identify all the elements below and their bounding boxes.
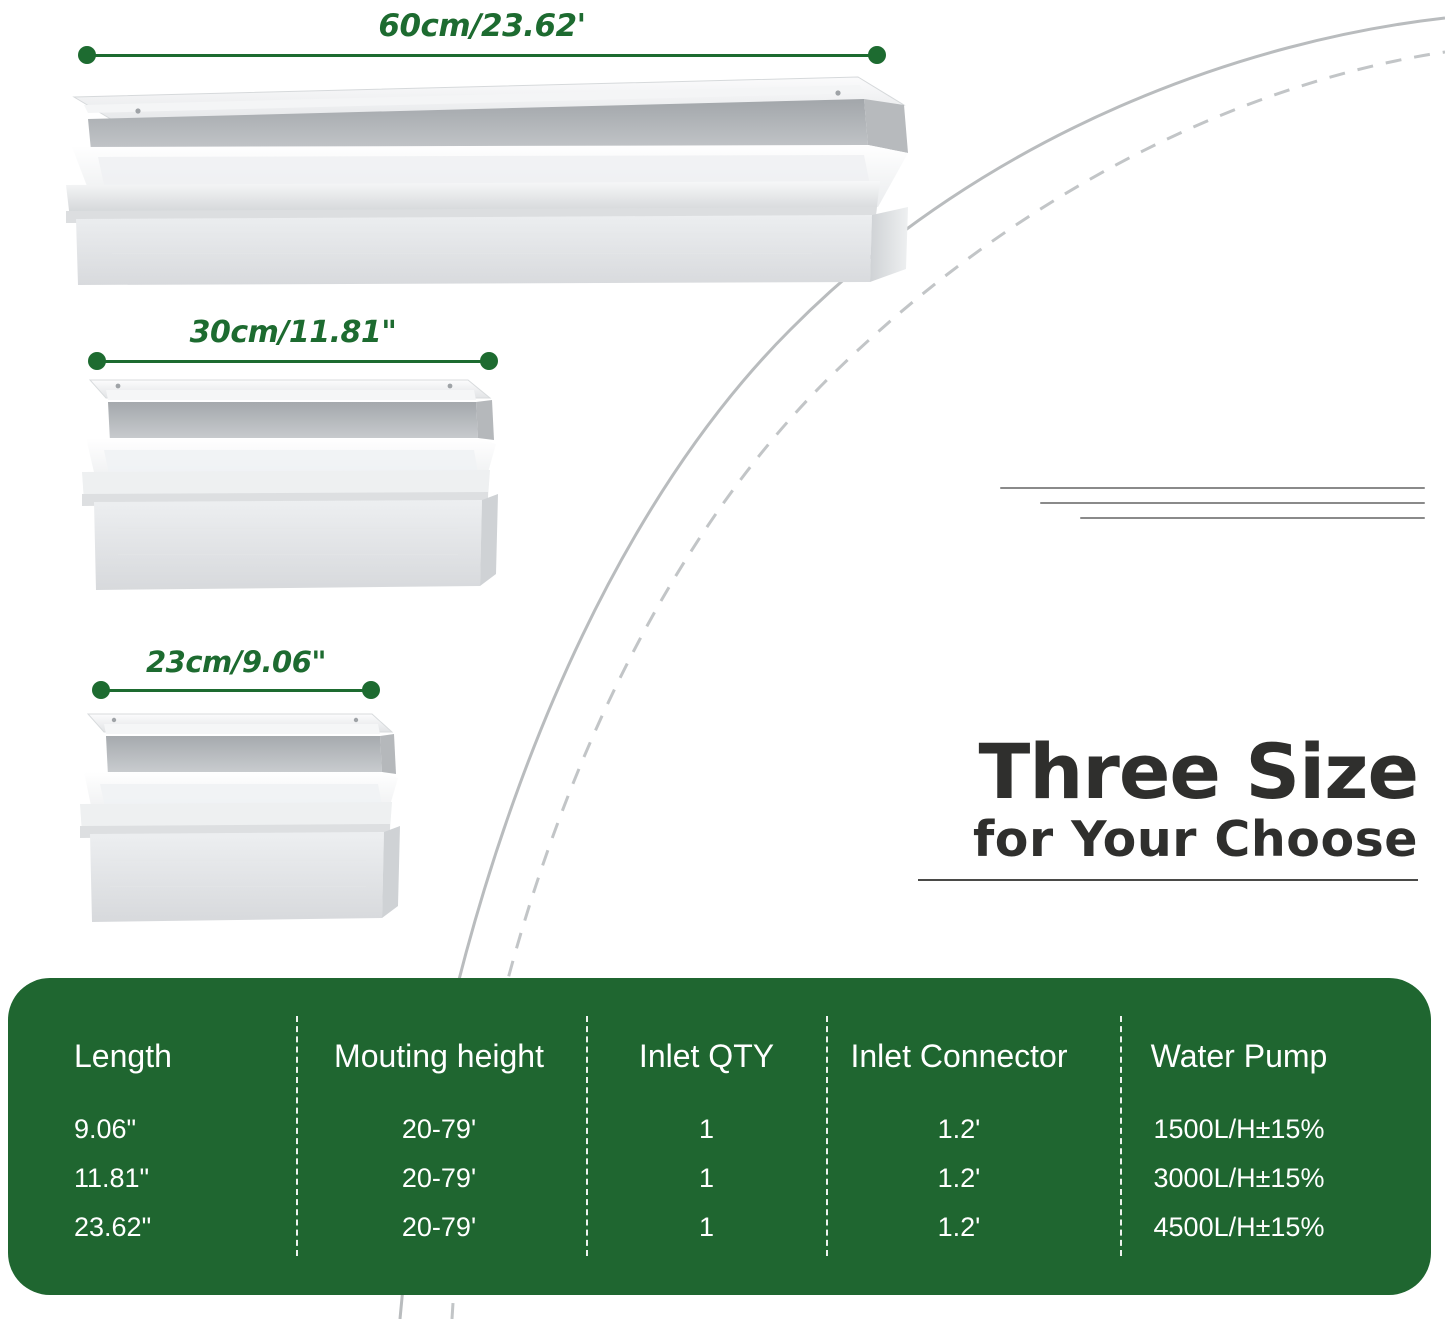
cell-length: 23.62" — [66, 1203, 289, 1252]
cell-inlet-qty: 1 — [589, 1105, 824, 1154]
product-image-small-spillway — [78, 700, 408, 922]
dimension-line-medium — [88, 352, 498, 370]
cell-inlet-qty: 1 — [589, 1203, 824, 1252]
dimension-rule — [87, 54, 877, 57]
cell-length: 9.06" — [66, 1105, 289, 1154]
dimension-endpoint-dot-right — [868, 46, 886, 64]
headline-underline — [918, 879, 1418, 881]
headline-line-2: for Your Choose — [918, 812, 1418, 868]
infographic-page: 60cm/23.62' 30cm/11.81" 23cm/9.06" Three… — [0, 0, 1445, 1319]
dimension-label-large: 60cm/23.62' — [78, 8, 886, 44]
table-header-row: Length Mouting height Inlet QTY Inlet Co… — [66, 1038, 1384, 1105]
column-header-length: Length — [66, 1038, 289, 1105]
table-row: 9.06" 20-79' 1 1.2' 1500L/H±15% — [66, 1105, 1384, 1154]
cell-mounting-height: 20-79' — [289, 1154, 589, 1203]
cell-inlet-connector: 1.2' — [824, 1203, 1094, 1252]
decorative-line-1 — [1000, 487, 1425, 489]
table-row: 11.81" 20-79' 1 1.2' 3000L/H±15% — [66, 1154, 1384, 1203]
dimension-line-small — [92, 681, 380, 699]
product-image-large-spillway — [52, 57, 912, 285]
cell-inlet-qty: 1 — [589, 1154, 824, 1203]
decorative-line-2 — [1040, 502, 1425, 504]
specification-panel: Length Mouting height Inlet QTY Inlet Co… — [8, 978, 1431, 1295]
cell-water-pump: 1500L/H±15% — [1094, 1105, 1384, 1154]
column-header-water-pump: Water Pump — [1094, 1038, 1384, 1105]
cell-inlet-connector: 1.2' — [824, 1154, 1094, 1203]
table-row: 23.62" 20-79' 1 1.2' 4500L/H±15% — [66, 1203, 1384, 1252]
dimension-endpoint-dot-right — [362, 681, 380, 699]
dimension-callout-small: 23cm/9.06" — [92, 645, 380, 699]
specification-panel-inner: Length Mouting height Inlet QTY Inlet Co… — [8, 978, 1431, 1295]
cell-length: 11.81" — [66, 1154, 289, 1203]
column-header-inlet-connector: Inlet Connector — [824, 1038, 1094, 1105]
decorative-lines — [1000, 487, 1425, 532]
cell-mounting-height: 20-79' — [289, 1203, 589, 1252]
cell-water-pump: 3000L/H±15% — [1094, 1154, 1384, 1203]
cell-mounting-height: 20-79' — [289, 1105, 589, 1154]
cell-inlet-connector: 1.2' — [824, 1105, 1094, 1154]
dimension-endpoint-dot-right — [480, 352, 498, 370]
dimension-rule — [97, 360, 489, 363]
column-header-mounting-height: Mouting height — [289, 1038, 589, 1105]
dimension-callout-medium: 30cm/11.81" — [88, 315, 498, 370]
cell-water-pump: 4500L/H±15% — [1094, 1203, 1384, 1252]
dimension-rule — [101, 689, 371, 692]
product-image-medium-spillway — [78, 368, 506, 590]
headline-block: Three Size for Your Choose — [918, 736, 1418, 881]
decorative-line-3 — [1080, 517, 1425, 519]
column-header-inlet-qty: Inlet QTY — [589, 1038, 824, 1105]
specification-table: Length Mouting height Inlet QTY Inlet Co… — [66, 1038, 1384, 1252]
headline-line-1: Three Size — [918, 736, 1418, 808]
dimension-label-medium: 30cm/11.81" — [88, 315, 498, 350]
dimension-line-large — [78, 46, 886, 64]
dimension-label-small: 23cm/9.06" — [92, 645, 380, 679]
dimension-callout-large: 60cm/23.62' — [78, 8, 886, 64]
